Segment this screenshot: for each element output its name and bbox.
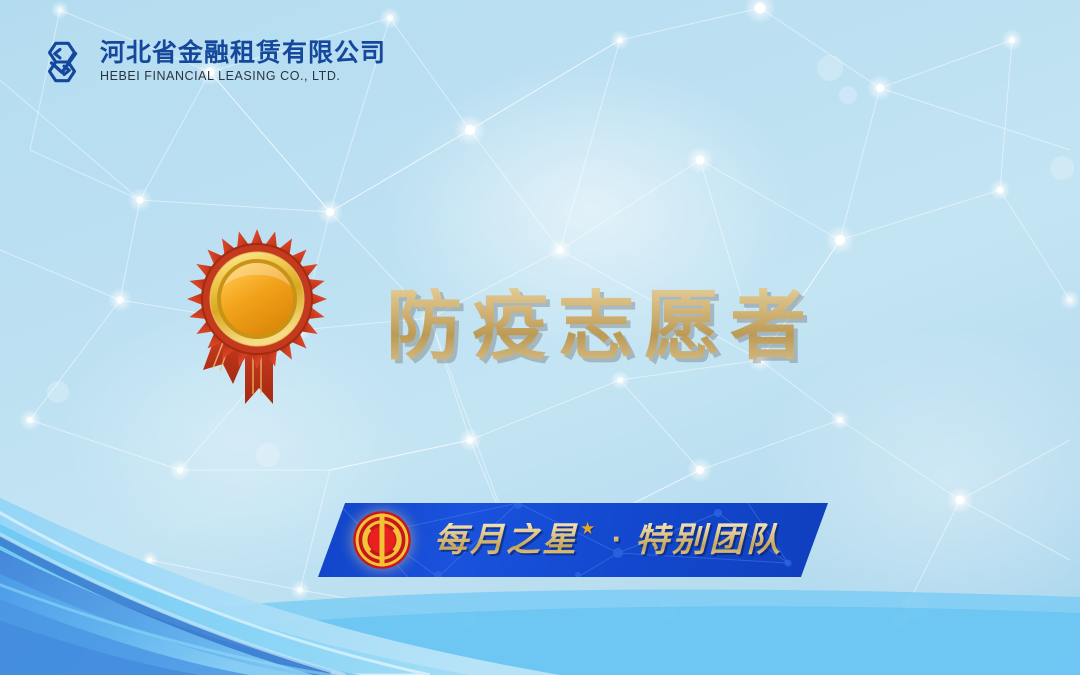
company-name-en: HEBEI FINANCIAL LEASING CO., LTD. [100, 68, 386, 84]
award-banner: 每月之星 ★ · 特别团队 [318, 503, 828, 577]
china-trade-union-emblem-icon [352, 510, 412, 570]
hexagon-interlock-logo-icon [36, 36, 88, 88]
award-title: 防疫志愿者 [386, 288, 816, 364]
company-logo-header: 河北省金融租赁有限公司 HEBEI FINANCIAL LEASING CO.,… [36, 36, 386, 88]
banner-title-primary: 每月之星 [434, 523, 578, 557]
banner-title-secondary: 特别团队 [635, 523, 783, 557]
star-icon: ★ [580, 519, 595, 539]
rosette-ribbon-award-icon [183, 228, 328, 408]
banner-separator: · [611, 527, 621, 553]
poster-canvas: 河北省金融租赁有限公司 HEBEI FINANCIAL LEASING CO.,… [0, 0, 1080, 675]
company-name-cn: 河北省金融租赁有限公司 [100, 39, 386, 67]
